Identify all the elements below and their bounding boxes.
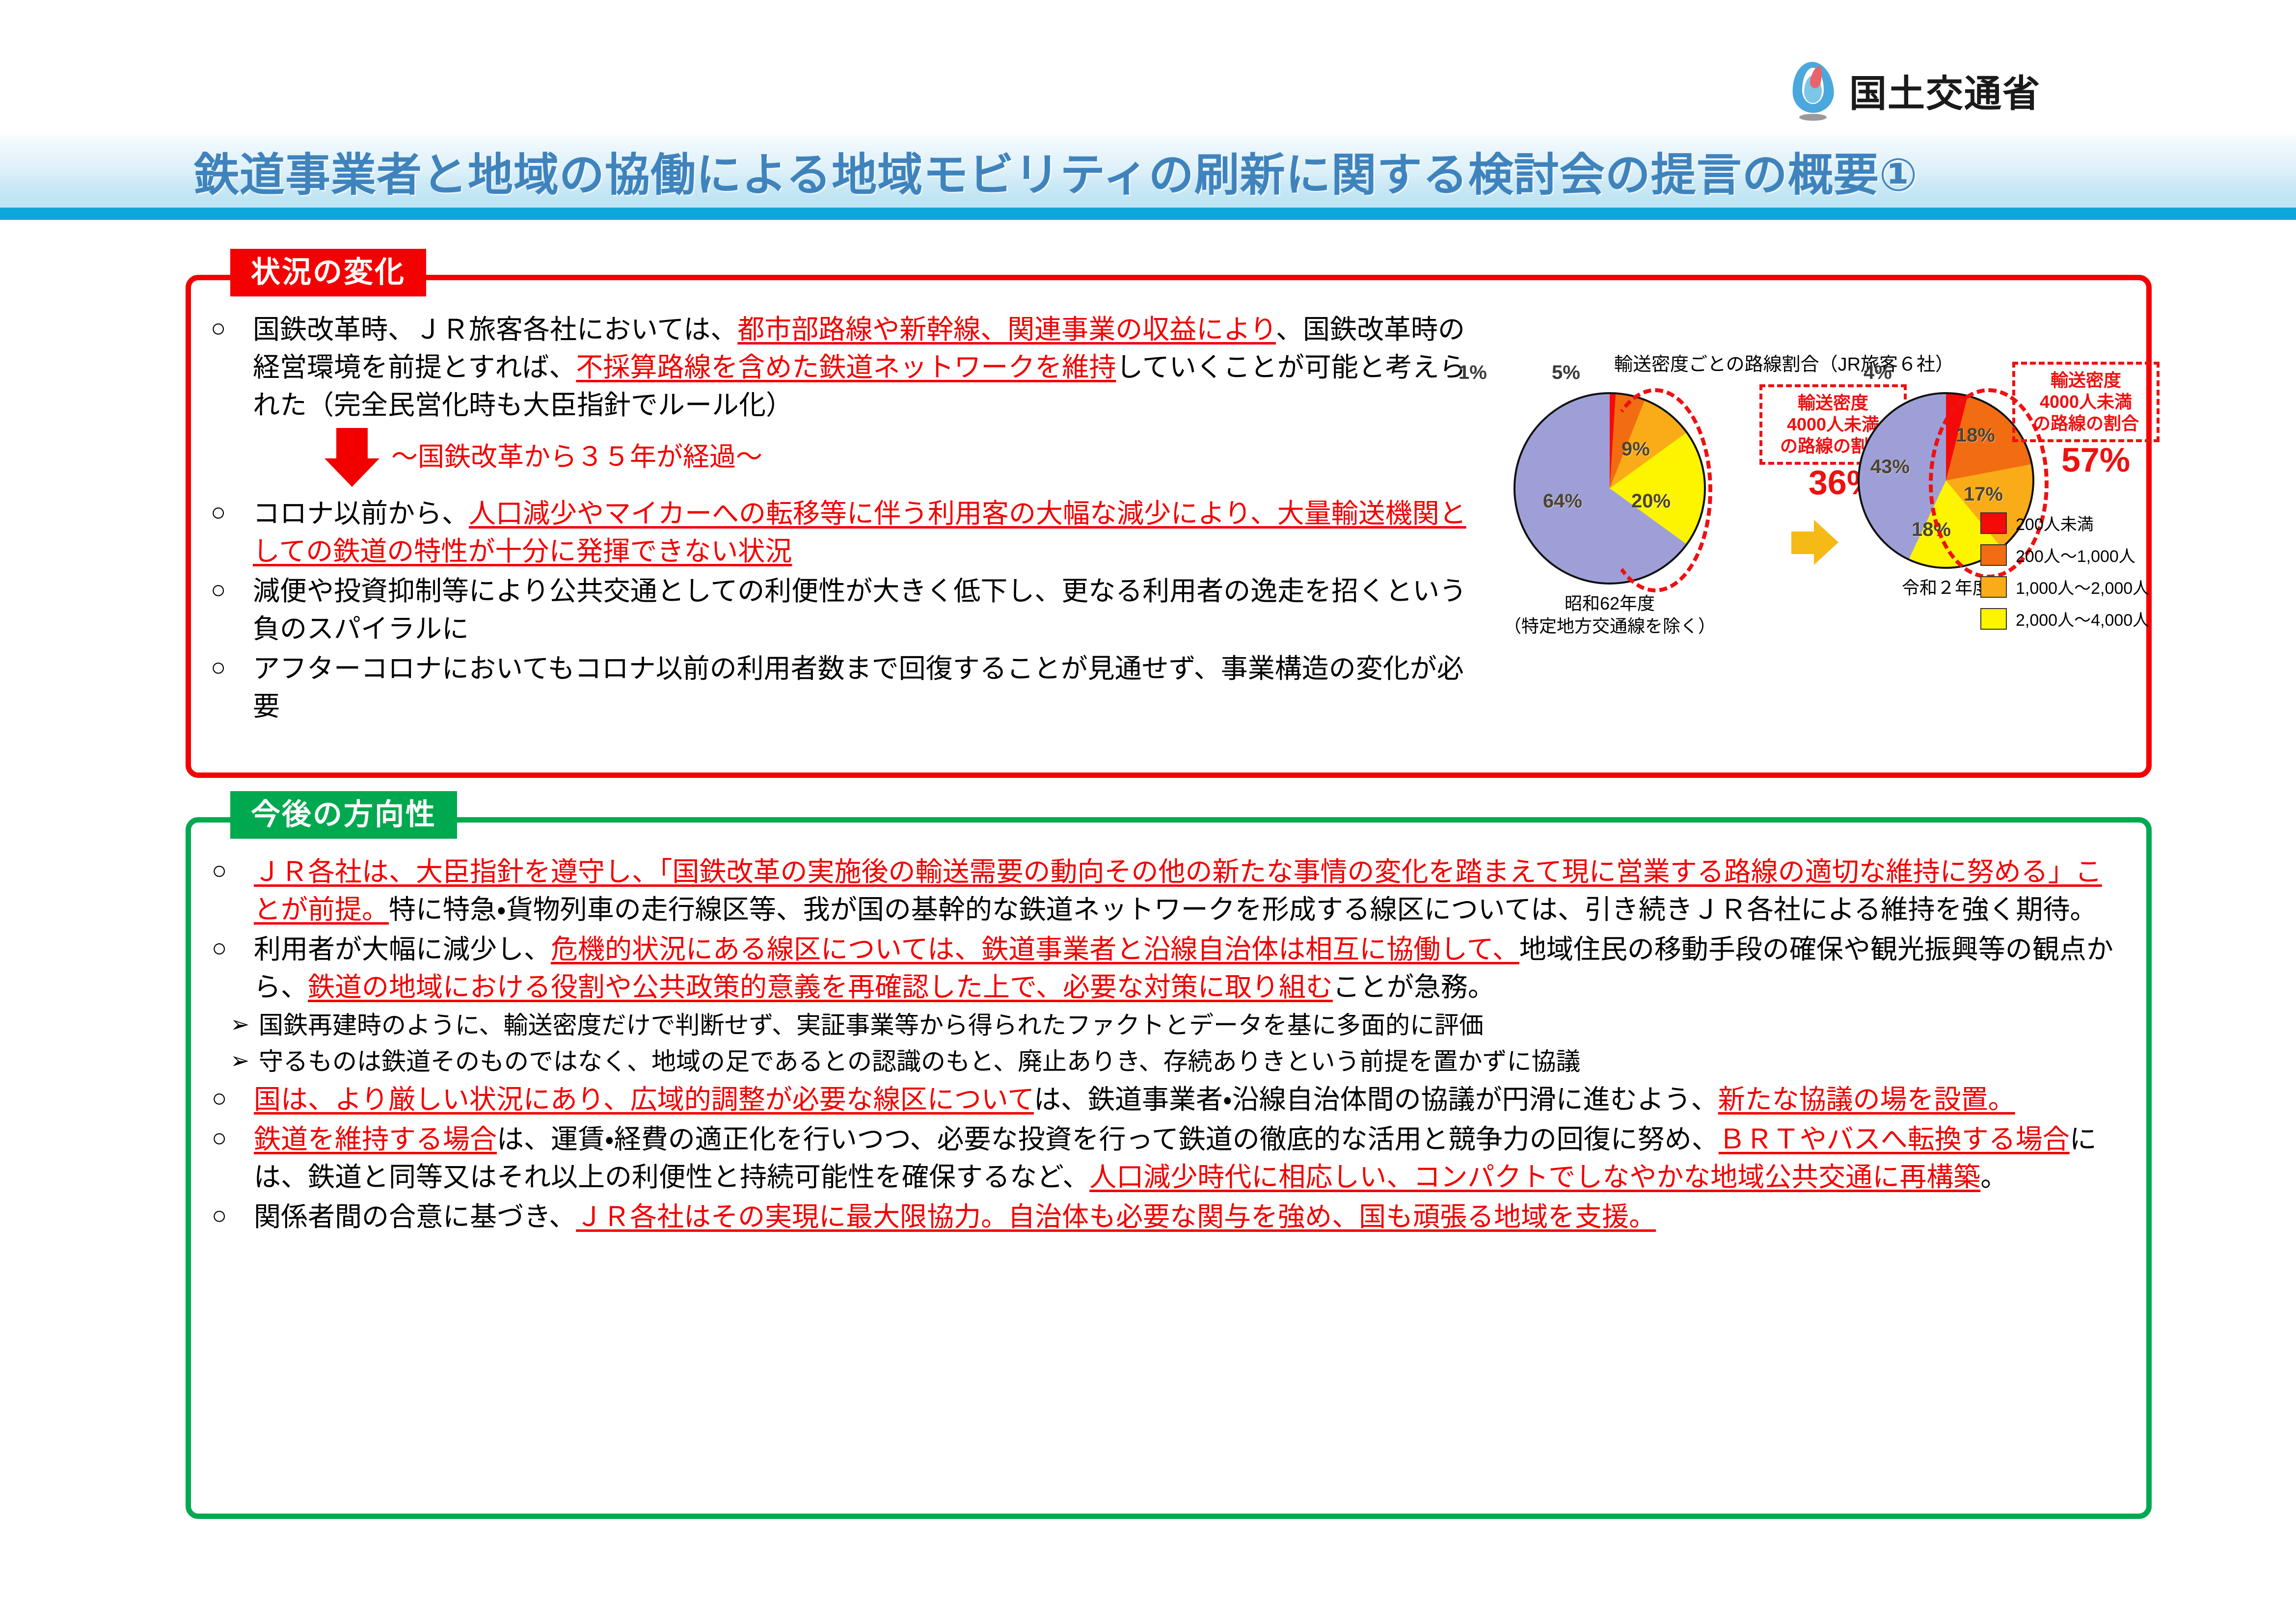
pie-showa62-caption: 昭和62年度 （特定地方交通線を除く） <box>1494 592 1725 638</box>
pie-showa62-slice-label-0: 1% <box>1459 362 1487 384</box>
bullet-marker: ○ <box>211 495 253 531</box>
bullet-text: 鉄道を維持する場合は、運賃・経費の適正化を行いつつ、必要な投資を行って鉄道の徹底… <box>254 1120 2116 1196</box>
emphasis-text: 危機的状況にある線区については、鉄道事業者と沿線自治体は相互に協働して、 <box>551 934 1519 964</box>
ministry-logo: 国土交通省 <box>1789 59 2041 122</box>
section-situation-body: ○国鉄改革時、ＪＲ旅客各社においては、都市部路線や新幹線、関連事業の収益により、… <box>211 311 1467 727</box>
plain-text: は、鉄道事業者・沿線自治体間の協議が円滑に進むよう、 <box>1034 1084 1718 1115</box>
page-title: 鉄道事業者と地域の協働による地域モビリティの刷新に関する検討会の提言の概要① <box>194 138 1918 204</box>
bullet-item: ○アフターコロナにおいてもコロナ以前の利用者数まで回復することが見通せず、事業構… <box>211 650 1467 725</box>
bullet-marker: ○ <box>211 311 253 346</box>
slide-page: 国土交通省 鉄道事業者と地域の協働による地域モビリティの刷新に関する検討会の提言… <box>0 0 2296 1623</box>
transition-note: ～国鉄改革から３５年が経過～ <box>391 435 762 474</box>
emphasis-text: 国は、より厳しい状況にあり、広域的調整が必要な線区について <box>254 1084 1034 1115</box>
bullet-item: ○関係者間の合意に基づき、ＪＲ各社はその実現に最大限協力。自治体も必要な関与を強… <box>212 1198 2116 1236</box>
emphasis-text: 鉄道を維持する場合 <box>254 1124 497 1154</box>
plain-text: 減便や投資抑制等により公共交通としての利便性が大きく低下し、更なる利用者の逸走を… <box>253 576 1466 644</box>
legend-swatch-icon <box>1980 544 2007 566</box>
bullet-item: ○減便や投資抑制等により公共交通としての利便性が大きく低下し、更なる利用者の逸走… <box>211 572 1467 648</box>
down-arrow-icon <box>324 428 379 486</box>
bullet-item: ➢国鉄再建時のように、輸送密度だけで判断せず、実証事業等から得られたファクトとデ… <box>212 1008 2116 1042</box>
bullet-marker: ○ <box>212 1081 254 1117</box>
pie-showa62-graphic: 1% 5% 9% 20% 64% <box>1513 392 1706 585</box>
legend-item: 200人未満 <box>1980 511 2149 535</box>
plain-text: 国鉄再建時のように、輸送密度だけで判断せず、実証事業等から得られたファクトとデー… <box>259 1011 1484 1039</box>
transport-density-chart: 輸送密度ごとの路線割合（JR旅客６社） 1% 5% 9% 20% 64% 昭和6… <box>1470 349 2133 742</box>
plain-text: 国鉄改革時、ＪＲ旅客各社においては、 <box>253 314 737 345</box>
legend-label: 200人～1,000人 <box>2016 543 2135 567</box>
emphasis-text: 自治体も必要な関与を強め、国も頑張る地域を支援。 <box>1008 1201 1656 1232</box>
bullet-text: 守るものは鉄道そのものではなく、地域の足であるとの認識のもと、廃止ありき、存続あ… <box>259 1044 2116 1079</box>
bullet-marker: ○ <box>212 853 254 889</box>
bullet-text: アフターコロナにおいてもコロナ以前の利用者数まで回復することが見通せず、事業構造… <box>253 650 1467 725</box>
section-direction-tab: 今後の方向性 <box>230 791 457 839</box>
bullet-marker: ➢ <box>212 1044 259 1077</box>
bullet-marker: ○ <box>212 1198 254 1234</box>
pie-reiwa2-slice-label-0: 4% <box>1864 362 1892 384</box>
bullet-marker: ➢ <box>212 1008 259 1040</box>
bullet-item: ➢守るものは鉄道そのものではなく、地域の足であるとの認識のもと、廃止ありき、存続… <box>212 1044 2116 1079</box>
bullet-item: ○利用者が大幅に減少し、危機的状況にある線区については、鉄道事業者と沿線自治体は… <box>212 931 2116 1006</box>
legend-swatch-icon <box>1980 608 2007 630</box>
plain-text: コロナ以前から、 <box>253 498 469 529</box>
emphasis-text: 人口減少時代に相応しい、コンパクトでしなやかな地域公共交通に再構築 <box>1089 1162 1980 1192</box>
legend-swatch-icon <box>1980 512 2007 534</box>
section-situation: 状況の変化 ○国鉄改革時、ＪＲ旅客各社においては、都市部路線や新幹線、関連事業の… <box>186 275 2152 778</box>
plain-text: 守るものは鉄道そのものではなく、地域の足であるとの認識のもと、廃止ありき、存続あ… <box>259 1048 1581 1075</box>
legend-item: 2,000人～4,000人 <box>1980 607 2149 631</box>
legend-swatch-icon <box>1980 576 2007 598</box>
pie-chart-showa62: 1% 5% 9% 20% 64% 昭和62年度 （特定地方交通線を除く） <box>1494 392 1725 638</box>
bullet-marker: ○ <box>211 572 253 608</box>
bullet-item: ○ＪＲ各社は、大臣指針を遵守し、「国鉄改革の実施後の輸送需要の動向その他の新たな… <box>212 853 2116 929</box>
bullet-item: ○国鉄改革時、ＪＲ旅客各社においては、都市部路線や新幹線、関連事業の収益により、… <box>211 311 1467 424</box>
pie-reiwa2-slice-label-3: 18% <box>1912 519 1951 541</box>
bullet-item: ○コロナ以前から、人口減少やマイカーへの転移等に伴う利用客の大幅な減少により、大… <box>211 495 1467 570</box>
pie-showa62-slice-label-3: 20% <box>1631 490 1671 512</box>
plain-text: 関係者間の合意に基づき、 <box>254 1201 576 1232</box>
highlight-value-reiwa2: 57% <box>2061 440 2130 479</box>
bullet-item: ○鉄道を維持する場合は、運賃・経費の適正化を行いつつ、必要な投資を行って鉄道の徹… <box>212 1120 2116 1196</box>
legend-label: 1,000人～2,000人 <box>2016 575 2149 599</box>
bullet-text: 関係者間の合意に基づき、ＪＲ各社はその実現に最大限協力。自治体も必要な関与を強め… <box>254 1198 2116 1236</box>
bullet-item: ○国は、より厳しい状況にあり、広域的調整が必要な線区については、鉄道事業者・沿線… <box>212 1081 2116 1118</box>
bullet-text: 国鉄再建時のように、輸送密度だけで判断せず、実証事業等から得られたファクトとデー… <box>259 1008 2116 1042</box>
plain-text: ことが急務。 <box>1333 972 1495 1002</box>
ministry-name: 国土交通省 <box>1849 63 2041 117</box>
pie-reiwa2-slice-label-1: 18% <box>1956 425 1995 447</box>
plain-text: 特に特急・貨物列車の走行線区等、我が国の基幹的な鉄道ネットワークを形成する線区に… <box>389 894 2097 925</box>
emphasis-text: 鉄道の地域における役割や公共政策的意義を再確認した上で、必要な対策に取り組む <box>308 972 1333 1002</box>
emphasis-text: 不採算路線を含めた鉄道ネットワークを維持 <box>576 352 1116 382</box>
mlit-emblem-icon <box>1789 59 1837 122</box>
pie-reiwa2-slice-label-2: 17% <box>1964 483 2003 506</box>
legend-label: 200人未満 <box>2016 511 2094 535</box>
plain-text: 利用者が大幅に減少し、 <box>254 934 551 964</box>
legend-item: 200人～1,000人 <box>1980 543 2149 567</box>
bullet-text: コロナ以前から、人口減少やマイカーへの転移等に伴う利用客の大幅な減少により、大量… <box>253 495 1467 570</box>
chart-legend: 200人未満200人～1,000人1,000人～2,000人2,000人～4,0… <box>1980 511 2149 639</box>
emphasis-text: ＢＲＴやバスへ転換する場合 <box>1719 1124 2070 1154</box>
pie-showa62-slice-label-4: 64% <box>1543 490 1582 512</box>
legend-label: 2,000人～4,000人 <box>2016 607 2149 631</box>
bullet-text: 国は、より厳しい状況にあり、広域的調整が必要な線区については、鉄道事業者・沿線自… <box>254 1081 2116 1118</box>
bullet-marker: ○ <box>211 650 253 686</box>
bullet-marker: ○ <box>212 1120 254 1156</box>
bullet-marker: ○ <box>212 931 254 966</box>
transition-arrow-icon <box>1791 520 1838 565</box>
bullet-text: 国鉄改革時、ＪＲ旅客各社においては、都市部路線や新幹線、関連事業の収益により、国… <box>253 311 1467 424</box>
bullet-text: ＪＲ各社は、大臣指針を遵守し、「国鉄改革の実施後の輸送需要の動向その他の新たな事… <box>254 853 2116 929</box>
legend-item: 1,000人～2,000人 <box>1980 575 2149 599</box>
plain-text: は、運賃・経費の適正化を行いつつ、必要な投資を行って鉄道の徹底的な活用と競争力の… <box>497 1124 1719 1154</box>
highlight-box-reiwa2: 輸送密度 4000人未満 の路線の割合 <box>2012 362 2160 442</box>
pie-showa62-slice-label-2: 9% <box>1621 438 1650 460</box>
transition-note-row: ～国鉄改革から３５年が経過～ <box>211 427 1467 490</box>
section-direction: 今後の方向性 ○ＪＲ各社は、大臣指針を遵守し、「国鉄改革の実施後の輸送需要の動向… <box>186 817 2152 1519</box>
pie-reiwa2-slice-label-4: 43% <box>1870 456 1910 478</box>
plain-text: 。 <box>1980 1162 2007 1192</box>
section-situation-tab: 状況の変化 <box>230 249 426 296</box>
emphasis-text: 新たな協議の場を設置。 <box>1718 1084 2015 1115</box>
bullet-text: 利用者が大幅に減少し、危機的状況にある線区については、鉄道事業者と沿線自治体は相… <box>254 931 2116 1006</box>
plain-text: アフターコロナにおいてもコロナ以前の利用者数まで回復することが見通せず、事業構造… <box>253 653 1464 721</box>
emphasis-text: 都市部路線や新幹線、関連事業の収益により <box>737 314 1276 345</box>
bullet-text: 減便や投資抑制等により公共交通としての利便性が大きく低下し、更なる利用者の逸走を… <box>253 572 1467 648</box>
pie-showa62-slice-label-1: 5% <box>1552 362 1580 384</box>
section-direction-body: ○ＪＲ各社は、大臣指針を遵守し、「国鉄改革の実施後の輸送需要の動向その他の新たな… <box>212 853 2116 1238</box>
emphasis-text: ＪＲ各社はその実現に最大限協力。 <box>576 1201 1008 1232</box>
